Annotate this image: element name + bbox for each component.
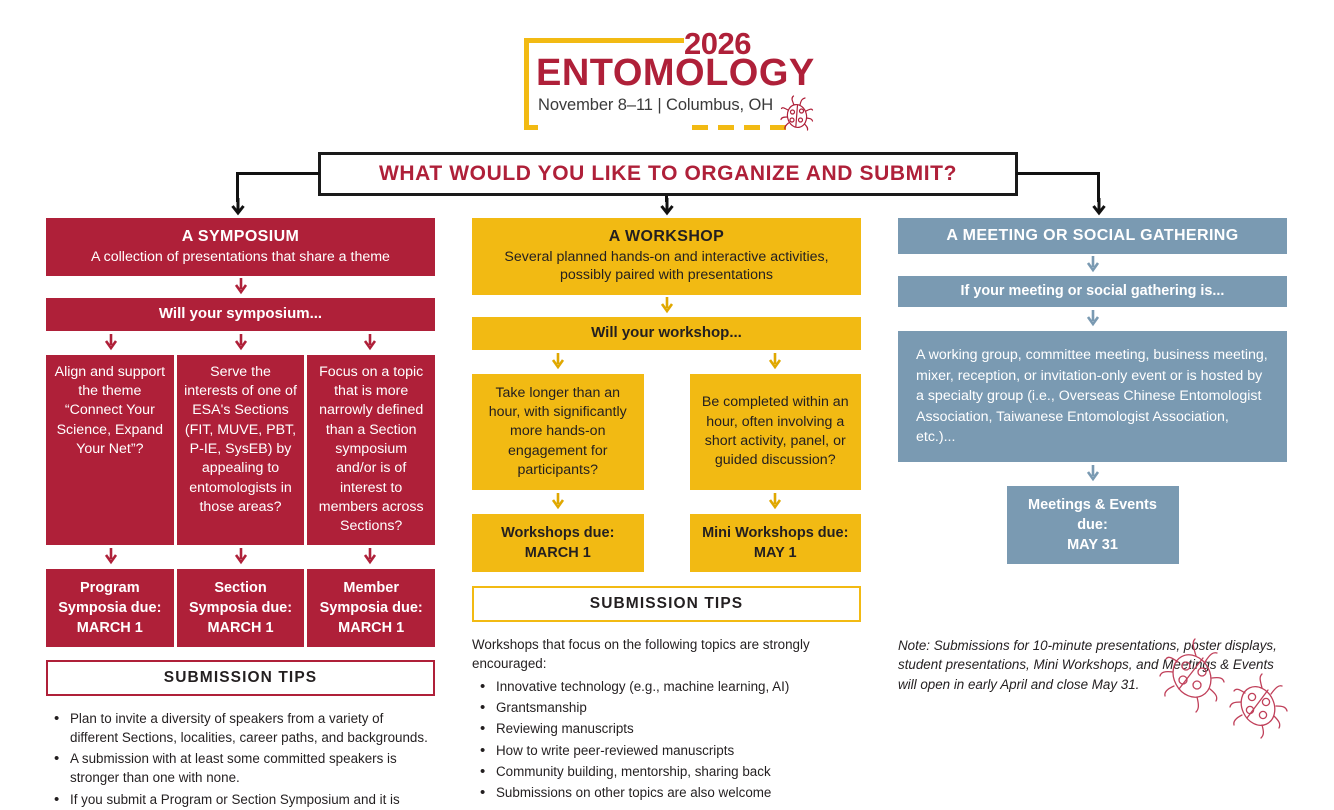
symposium-outcome-3-date: MARCH 1	[312, 618, 430, 638]
arrow-down-symposium-question	[232, 277, 250, 297]
connector-left-horizontal	[236, 172, 320, 175]
infographic-page: 2026 ENTOMOLOGY November 8–11 | Columbus…	[0, 0, 1334, 810]
meeting-header: A MEETING OR SOCIAL GATHERING	[898, 218, 1287, 254]
workshop-outcome-2-label: Mini Workshops due:	[695, 523, 857, 543]
logo-dateline: November 8–11 | Columbus, OH	[538, 96, 773, 115]
arrow-down-symposium-outcome-1	[102, 547, 120, 567]
ladybug-icon	[1230, 674, 1287, 738]
symposium-outcome-2: Section Symposia due: MARCH 1	[177, 569, 305, 647]
workshop-tips-body: Workshops that focus on the following to…	[472, 635, 861, 810]
workshop-question-text: Will your workshop...	[482, 323, 851, 343]
arrow-down-workshop-outcome-2	[766, 492, 784, 512]
workshop-option-1: Take longer than an hour, with significa…	[472, 374, 644, 491]
workshop-tips-lead: Workshops that focus on the following to…	[472, 635, 861, 674]
meeting-outcome: Meetings & Events due: MAY 31	[1007, 486, 1179, 564]
main-question-banner: WHAT WOULD YOU LIKE TO ORGANIZE AND SUBM…	[318, 152, 1018, 196]
meeting-question: If your meeting or social gathering is..…	[898, 276, 1287, 307]
symposium-outcome-3: Member Symposia due: MARCH 1	[307, 569, 435, 647]
meeting-option-text: A working group, committee meeting, busi…	[916, 345, 1269, 448]
workshop-question: Will your workshop...	[472, 317, 861, 349]
meeting-option: A working group, committee meeting, busi…	[898, 331, 1287, 462]
symposium-description: A collection of presentations that share…	[56, 248, 425, 267]
symposium-outcome-1-label: Program Symposia due:	[51, 578, 169, 618]
workshop-description: Several planned hands-on and interactive…	[484, 248, 849, 286]
arrow-down-workshop-outcome-1	[549, 492, 567, 512]
arrow-down-meeting-option	[1084, 309, 1102, 329]
workshop-outcome-1-date: MARCH 1	[477, 543, 639, 563]
workshop-tips-header: SUBMISSION TIPS	[472, 586, 861, 622]
arrow-down-meeting-outcome	[1084, 464, 1102, 484]
symposium-outcome-1: Program Symposia due: MARCH 1	[46, 569, 174, 647]
workshop-option-2: Be completed within an hour, often invol…	[690, 374, 862, 491]
list-item: If you submit a Program or Section Sympo…	[46, 790, 435, 810]
list-item: Plan to invite a diversity of speakers f…	[46, 709, 435, 748]
symposium-outcome-3-label: Member Symposia due:	[312, 578, 430, 618]
arrow-down-symposium-outcome-3	[361, 547, 379, 567]
ladybug-icon	[1160, 639, 1224, 712]
symposium-option-1-text: Align and support the theme “Connect You…	[53, 363, 167, 460]
arrow-down-symposium-opt-3	[361, 333, 379, 353]
arrow-down-meeting-question	[1084, 255, 1102, 275]
list-item: Innovative technology (e.g., machine lea…	[472, 677, 861, 696]
symposium-option-2: Serve the interests of one of ESA's Sect…	[177, 355, 305, 545]
list-item: Submissions on other topics are also wel…	[472, 783, 861, 802]
arrow-down-workshop-opt-2	[766, 352, 784, 372]
symposium-option-3: Focus on a topic that is more narrowly d…	[307, 355, 435, 545]
workshop-header: A WORKSHOP Several planned hands-on and …	[472, 218, 861, 295]
list-item: Community building, mentorship, sharing …	[472, 762, 861, 781]
entomology-2026-logo: 2026 ENTOMOLOGY November 8–11 | Columbus…	[524, 32, 824, 138]
workshop-outcome-2: Mini Workshops due: MAY 1	[690, 514, 862, 572]
workshop-outcome-1: Workshops due: MARCH 1	[472, 514, 644, 572]
workshop-option-1-text: Take longer than an hour, with significa…	[480, 384, 636, 481]
arrow-down-to-workshop	[657, 198, 677, 218]
symposium-tips-body: Plan to invite a diversity of speakers f…	[46, 709, 435, 810]
meeting-title: A MEETING OR SOCIAL GATHERING	[908, 225, 1277, 247]
symposium-option-3-text: Focus on a topic that is more narrowly d…	[314, 363, 428, 537]
list-item: Grantsmanship	[472, 698, 861, 717]
meeting-outcome-label: Meetings & Events due:	[1012, 495, 1174, 535]
arrow-down-to-symposium	[228, 198, 248, 218]
symposium-outcome-2-date: MARCH 1	[182, 618, 300, 638]
workshop-option-2-text: Be completed within an hour, often invol…	[698, 393, 854, 470]
meeting-outcome-date: MAY 31	[1012, 535, 1174, 555]
symposium-outcome-1-date: MARCH 1	[51, 618, 169, 638]
main-question-text: WHAT WOULD YOU LIKE TO ORGANIZE AND SUBM…	[379, 162, 957, 186]
column-workshop: A WORKSHOP Several planned hands-on and …	[472, 218, 861, 810]
symposium-question-text: Will your symposium...	[56, 304, 425, 324]
workshop-title: A WORKSHOP	[484, 226, 849, 248]
arrow-down-workshop-question	[658, 296, 676, 316]
symposium-option-1: Align and support the theme “Connect You…	[46, 355, 174, 545]
workshop-outcome-2-date: MAY 1	[695, 543, 857, 563]
meeting-question-text: If your meeting or social gathering is..…	[908, 282, 1277, 301]
connector-right-horizontal	[1016, 172, 1100, 175]
arrow-down-to-meeting	[1089, 198, 1109, 218]
column-meeting: A MEETING OR SOCIAL GATHERING If your me…	[898, 218, 1287, 694]
list-item: A submission with at least some committe…	[46, 749, 435, 788]
symposium-header: A SYMPOSIUM A collection of presentation…	[46, 218, 435, 276]
symposium-outcome-2-label: Section Symposia due:	[182, 578, 300, 618]
symposium-title: A SYMPOSIUM	[56, 226, 425, 248]
workshop-options: Take longer than an hour, with significa…	[472, 374, 861, 491]
column-symposium: A SYMPOSIUM A collection of presentation…	[46, 218, 435, 810]
symposium-outcomes: Program Symposia due: MARCH 1 Section Sy…	[46, 569, 435, 647]
arrow-down-symposium-outcome-2	[232, 547, 250, 567]
arrow-down-symposium-opt-1	[102, 333, 120, 353]
logo-wordmark: ENTOMOLOGY	[536, 52, 815, 95]
symposium-options: Align and support the theme “Connect You…	[46, 355, 435, 545]
list-item: Reviewing manuscripts	[472, 719, 861, 738]
list-item: How to write peer-reviewed manuscripts	[472, 741, 861, 760]
workshop-outcome-1-label: Workshops due:	[477, 523, 639, 543]
arrow-down-symposium-opt-2	[232, 333, 250, 353]
symposium-option-2-text: Serve the interests of one of ESA's Sect…	[184, 363, 298, 518]
ladybug-icon	[779, 94, 815, 137]
arrow-down-workshop-opt-1	[549, 352, 567, 372]
logo-top-rule	[536, 38, 684, 43]
workshop-outcomes: Workshops due: MARCH 1 Mini Workshops du…	[472, 514, 861, 572]
symposium-question: Will your symposium...	[46, 298, 435, 330]
symposium-tips-header: SUBMISSION TIPS	[46, 660, 435, 696]
ladybug-decoration-group	[1152, 636, 1302, 746]
